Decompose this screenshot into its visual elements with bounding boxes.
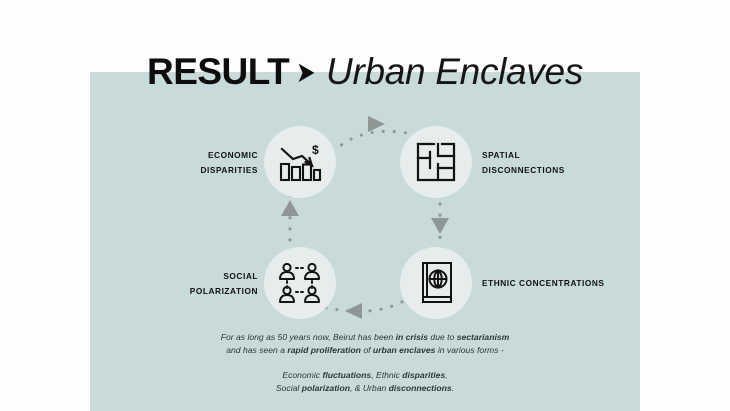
node-social-polarization[interactable]	[264, 247, 336, 319]
caption-block: For as long as 50 years now, Beirut has …	[90, 331, 640, 395]
node-spatial-disconnections[interactable]	[400, 126, 472, 198]
caption-p1-line1: For as long as 50 years now, Beirut has …	[90, 331, 640, 344]
caption-p1-l1-d: sectarianism	[457, 332, 510, 342]
caption-p2-l1-d: disparities	[402, 370, 445, 380]
node-economic-disparities[interactable]: $	[264, 126, 336, 198]
arrowhead-down-icon	[431, 218, 449, 234]
floor-plan-icon	[416, 142, 456, 182]
people-network-icon	[278, 262, 322, 304]
caption-p1-l2-a: and has seen a	[226, 345, 287, 355]
caption-p2-l1-e: ,	[445, 370, 447, 380]
caption-p2-l1-c: , Ethnic	[371, 370, 402, 380]
caption-p2-line1: Economic fluctuations, Ethnic disparitie…	[90, 369, 640, 382]
caption-p2-l2-e: .	[452, 383, 454, 393]
title-subtitle-text: Urban Enclaves	[326, 51, 583, 93]
slide-root: RESULT ➤ Urban Enclaves	[0, 0, 730, 411]
caption-p2-l1-a: Economic	[282, 370, 322, 380]
caption-p1-l1-a: For as long as 50 years now, Beirut has …	[221, 332, 396, 342]
caption-p2-l2-b: polarization	[302, 383, 350, 393]
node-label-spatial-disconnections: SPATIAL DISCONNECTIONS	[482, 148, 642, 177]
caption-p1-l2-e: in various forms -	[435, 345, 503, 355]
caption-paragraph-2: Economic fluctuations, Ethnic disparitie…	[90, 369, 640, 396]
bar-chart-declining-dollar-icon: $	[278, 141, 322, 183]
caption-p1-l1-b: in crisis	[396, 332, 428, 342]
caption-paragraph-1: For as long as 50 years now, Beirut has …	[90, 331, 640, 358]
caption-p2-line2: Social polarization, & Urban disconnecti…	[90, 382, 640, 395]
arrowhead-left-icon	[345, 303, 362, 319]
cycle-diagram: $ ECONOMIC DISPARITIES SPATIAL DISCONNEC…	[90, 100, 640, 330]
caption-p2-l2-a: Social	[276, 383, 302, 393]
caption-p2-l1-b: fluctuations	[322, 370, 371, 380]
title-main-text: RESULT	[147, 51, 289, 93]
caption-p1-l1-c: due to	[428, 332, 457, 342]
node-label-ethnic-concentrations: ETHNIC CONCENTRATIONS	[482, 276, 642, 291]
node-ethnic-concentrations[interactable]	[400, 247, 472, 319]
caption-p1-l2-d: urban enclaves	[373, 345, 436, 355]
arrowhead-up-icon	[281, 200, 299, 216]
svg-text:$: $	[312, 143, 319, 157]
caption-p2-l2-c: , & Urban	[350, 383, 389, 393]
caption-p2-l2-d: disconnections	[389, 383, 452, 393]
caption-p1-l2-c: of	[361, 345, 373, 355]
passport-globe-book-icon	[417, 261, 455, 305]
arrowhead-right-icon	[368, 116, 385, 132]
caret-right-icon: ➤	[297, 57, 314, 88]
page-title: RESULT ➤ Urban Enclaves	[90, 44, 640, 100]
node-label-social-polarization: SOCIAL POLARIZATION	[130, 269, 258, 298]
caption-p1-line2: and has seen a rapid proliferation of ur…	[90, 344, 640, 357]
caption-p1-l2-b: rapid proliferation	[287, 345, 361, 355]
node-label-economic-disparities: ECONOMIC DISPARITIES	[130, 148, 258, 177]
